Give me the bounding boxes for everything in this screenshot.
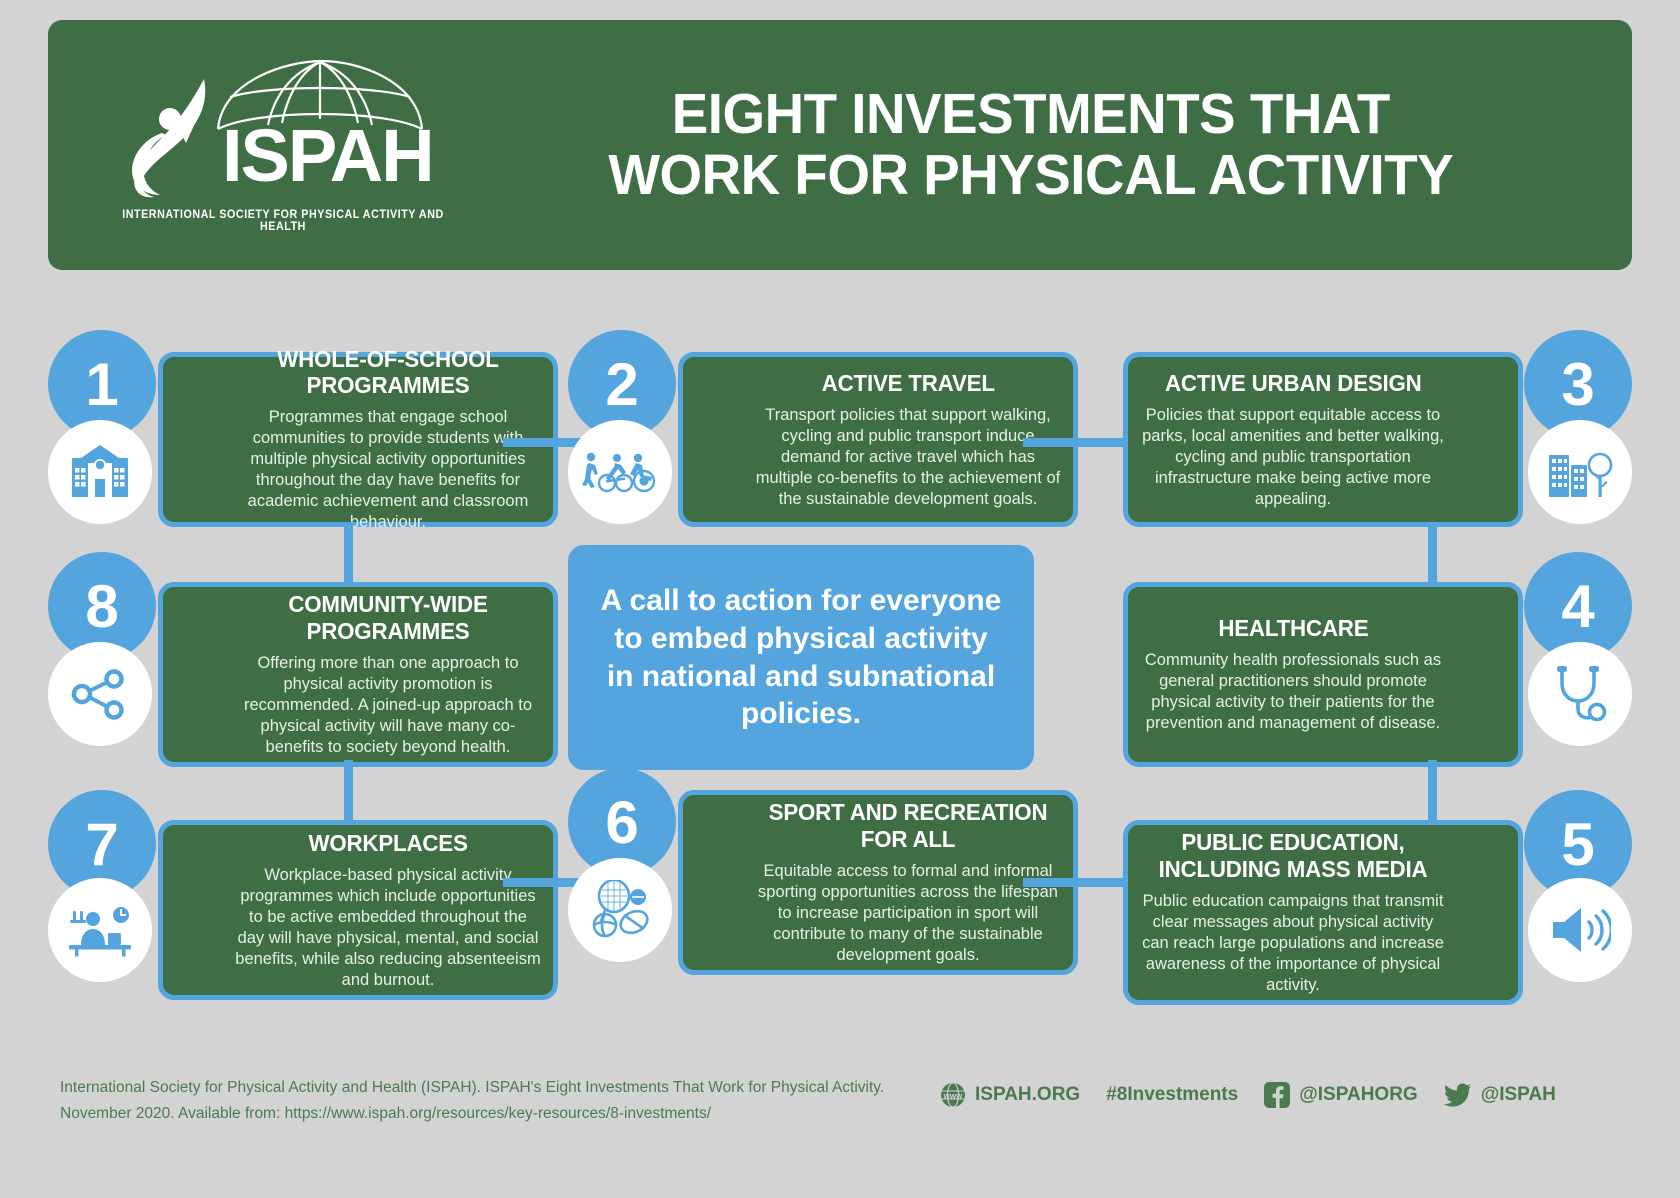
investment-card-2[interactable]: ACTIVE TRAVEL Transport policies that su… [678,352,1078,527]
facebook-icon [1264,1082,1290,1108]
sports-equipment-icon [588,880,652,940]
school-building-icon [69,443,131,501]
citation-line-2: November 2020. Available from: https://w… [60,1101,940,1127]
card-3-icon-bubble [1528,420,1632,524]
card-8-icon-bubble [48,642,152,746]
citation-line-1: International Society for Physical Activ… [60,1075,940,1101]
svg-text:ISPAH: ISPAH [222,114,433,197]
investment-card-7[interactable]: WORKPLACES Workplace-based physical acti… [158,820,558,1000]
call-to-action-text: A call to action for everyone to embed p… [573,582,1029,733]
logo-tagline: INTERNATIONAL SOCIETY FOR PHYSICAL ACTIV… [111,209,455,233]
cta-line-1: A call to action for [601,584,862,617]
card-7-icon-bubble [48,878,152,982]
card-6-number: 6 [605,788,638,857]
infographic-poster: ISPAH INTERNATIONAL SOCIETY FOR PHYSICAL… [0,0,1680,1198]
cta-line-4: and subnational policies. [741,660,995,731]
social-link-website[interactable]: www ISPAH.ORG [940,1082,1080,1108]
call-to-action-card[interactable]: A call to action for everyone to embed p… [568,545,1034,770]
card-8-number: 8 [85,572,118,641]
card-3-title: ACTIVE URBAN DESIGN [1165,370,1422,396]
card-4-body: Community health professionals such as g… [1140,650,1446,734]
card-2-title: ACTIVE TRAVEL [821,370,994,396]
card-4-icon-bubble [1528,642,1632,746]
desk-worker-clock-icon [67,903,133,957]
card-2-body: Transport policies that support walking,… [755,405,1061,510]
card-5-content: PUBLIC EDUCATION, INCLUDING MASS MEDIA P… [1140,825,1446,1000]
citation-text: International Society for Physical Activ… [60,1075,940,1126]
social-label-hashtag: #8Investments [1106,1084,1238,1106]
social-link-hashtag[interactable]: #8Investments [1106,1084,1238,1106]
card-4-number: 4 [1561,572,1594,641]
social-link-facebook[interactable]: @ISPAHORG [1264,1082,1417,1108]
investment-card-5[interactable]: PUBLIC EDUCATION, INCLUDING MASS MEDIA P… [1123,820,1523,1005]
network-nodes-icon [70,668,130,720]
investment-card-6[interactable]: SPORT AND RECREATION FOR ALL Equitable a… [678,790,1078,975]
investment-card-1[interactable]: WHOLE-OF-SCHOOL PROGRAMMES Programmes th… [158,352,558,527]
social-links: www ISPAH.ORG #8Investments @ISPAHORG @I… [940,1082,1556,1108]
twitter-icon [1444,1083,1472,1107]
card-6-title: SPORT AND RECREATION FOR ALL [760,799,1057,851]
card-4-title: HEALTHCARE [1218,615,1368,641]
card-8-title: COMMUNITY-WIDE PROGRAMMES [240,591,537,643]
investments-grid: WHOLE-OF-SCHOOL PROGRAMMES Programmes th… [48,330,1632,1020]
page-title: EIGHT INVESTMENTS THAT WORK FOR PHYSICAL… [491,84,1608,206]
card-3-content: ACTIVE URBAN DESIGN Policies that suppor… [1140,357,1446,522]
card-7-title: WORKPLACES [308,830,467,856]
card-3-body: Policies that support equitable access t… [1140,405,1446,510]
card-5-icon-bubble [1528,878,1632,982]
investment-card-8[interactable]: COMMUNITY-WIDE PROGRAMMES Offering more … [158,582,558,767]
connector-3-4 [1428,522,1437,582]
investment-card-3[interactable]: ACTIVE URBAN DESIGN Policies that suppor… [1123,352,1523,527]
card-1-title: WHOLE-OF-SCHOOL PROGRAMMES [240,346,537,398]
card-2-number: 2 [605,350,638,419]
card-5-number: 5 [1561,810,1594,879]
card-4-content: HEALTHCARE Community health professional… [1140,587,1446,762]
svg-text:www: www [943,1092,963,1101]
megaphone-speaker-icon [1549,905,1611,955]
card-7-body: Workplace-based physical activity progra… [235,865,541,991]
social-label-facebook: @ISPAHORG [1299,1084,1417,1106]
card-7-number: 7 [85,810,118,879]
walk-cycle-wheelchair-icon [582,450,658,494]
card-8-body: Offering more than one approach to physi… [235,653,541,758]
poster-header: ISPAH INTERNATIONAL SOCIETY FOR PHYSICAL… [48,20,1632,270]
connector-1-8 [344,522,353,582]
card-1-content: WHOLE-OF-SCHOOL PROGRAMMES Programmes th… [235,357,541,522]
card-6-icon-bubble [568,858,672,962]
connector-2-3 [1023,438,1123,447]
www-globe-icon: www [940,1082,966,1108]
ispah-logo: ISPAH INTERNATIONAL SOCIETY FOR PHYSICAL… [48,57,468,233]
card-5-title: PUBLIC EDUCATION, INCLUDING MASS MEDIA [1145,829,1442,881]
investment-card-4[interactable]: HEALTHCARE Community health professional… [1123,582,1523,767]
city-buildings-tree-icon [1547,445,1613,499]
card-1-body: Programmes that engage school communitie… [235,407,541,533]
social-label-website: ISPAH.ORG [975,1084,1080,1106]
social-link-twitter[interactable]: @ISPAH [1444,1083,1556,1107]
connector-6-5 [1023,878,1123,887]
card-6-content: SPORT AND RECREATION FOR ALL Equitable a… [755,795,1061,970]
card-1-number: 1 [85,350,118,419]
card-5-body: Public education campaigns that transmit… [1140,891,1446,996]
card-1-icon-bubble [48,420,152,524]
card-2-content: ACTIVE TRAVEL Transport policies that su… [755,357,1061,522]
stethoscope-icon [1552,665,1608,723]
social-label-twitter: @ISPAH [1481,1084,1556,1106]
connector-8-7 [344,760,353,820]
card-3-number: 3 [1561,350,1594,419]
card-7-content: WORKPLACES Workplace-based physical acti… [235,825,541,995]
card-2-icon-bubble [568,420,672,524]
page-title-line-2: WORK FOR PHYSICAL ACTIVITY [491,145,1570,206]
card-6-body: Equitable access to formal and informal … [755,861,1061,966]
ispah-logo-mark: ISPAH [118,57,448,207]
card-8-content: COMMUNITY-WIDE PROGRAMMES Offering more … [235,587,541,762]
page-title-line-1: EIGHT INVESTMENTS THAT [491,84,1570,145]
poster-footer: International Society for Physical Activ… [0,1040,1680,1198]
connector-4-5 [1428,760,1437,820]
